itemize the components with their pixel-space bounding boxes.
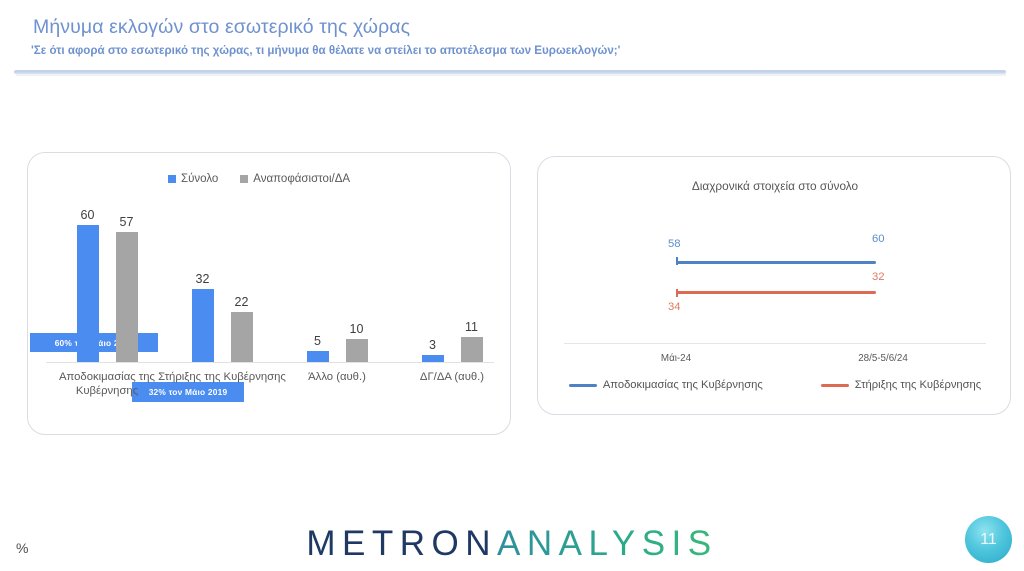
bar-value: 10 xyxy=(350,322,364,336)
bar-wrap: 5 xyxy=(307,351,329,362)
line-chart-panel: Διαχρονικά στοιχεία στο σύνολο 58 60 34 … xyxy=(537,156,1011,415)
legend-swatch-blue-icon xyxy=(168,175,176,183)
bar-value: 5 xyxy=(314,334,321,348)
line-point-label-red-start: 34 xyxy=(668,301,681,313)
bar-grey xyxy=(231,312,253,362)
bar-group-bars: 3 11 xyxy=(397,202,507,362)
bar-group: 32 22 Στήριξης της Κυβέρνησης xyxy=(167,202,277,362)
line-series-red xyxy=(676,291,876,294)
bar-category-label: ΔΓ/ΔΑ (αυθ.) xyxy=(385,371,519,385)
line-legend-item-stirixis: Στήριξης της Κυβέρνησης xyxy=(821,379,981,391)
line-point-label-blue-end: 60 xyxy=(872,233,885,245)
bar-blue xyxy=(422,355,444,362)
bar-value: 60 xyxy=(81,208,95,222)
bar-grey xyxy=(461,337,483,362)
line-legend-label-apodokimasias: Αποδοκιμασίας της Κυβέρνησης xyxy=(603,379,763,391)
bar-blue xyxy=(77,225,99,362)
bar-value: 11 xyxy=(465,320,478,334)
bar-wrap: 22 xyxy=(231,312,253,362)
legend-swatch-grey-icon xyxy=(240,175,248,183)
bar-category-label: Άλλο (αυθ.) xyxy=(270,371,404,385)
bar-chart-panel: Σύνολο Αναποφάσιστοι/ΔΑ 60% τον Μάιο 201… xyxy=(27,152,511,435)
bar-grey xyxy=(346,339,368,362)
page-title: Μήνυμα εκλογών στο εσωτερικό της χώρας xyxy=(33,16,410,39)
page-number-text: 11 xyxy=(980,531,997,549)
line-plot-area: 58 60 34 32 Μάι-24 28/5-5/6/24 xyxy=(560,205,990,345)
line-point-label-blue-start: 58 xyxy=(668,238,681,250)
metron-analysis-logo: METRONANALYSIS xyxy=(0,524,1024,564)
line-legend-item-apodokimasias: Αποδοκιμασίας της Κυβέρνησης xyxy=(569,379,763,391)
bar-baseline xyxy=(46,362,494,363)
line-x-tick: Μάι-24 xyxy=(626,353,726,364)
bar-wrap: 3 xyxy=(422,355,444,362)
slide-header: Μήνυμα εκλογών στο εσωτερικό της χώρας '… xyxy=(0,0,1024,72)
line-x-tick: 28/5-5/6/24 xyxy=(828,353,938,364)
bar-value: 57 xyxy=(120,215,134,229)
line-point-label-red-end: 32 xyxy=(872,271,885,283)
bar-wrap: 57 xyxy=(116,232,138,362)
bar-group-bars: 32 22 xyxy=(167,202,277,362)
line-chart-legend: Αποδοκιμασίας της Κυβέρνησης Στήριξης τη… xyxy=(538,379,1012,391)
line-legend-label-stirixis: Στήριξης της Κυβέρνησης xyxy=(855,379,981,391)
bar-grey xyxy=(116,232,138,362)
bar-value: 32 xyxy=(196,272,210,286)
bar-chart-legend: Σύνολο Αναποφάσιστοι/ΔΑ xyxy=(168,173,350,185)
logo-metron-text: METRON xyxy=(306,524,497,563)
bar-group: 3 11 ΔΓ/ΔΑ (αυθ.) xyxy=(397,202,507,362)
bar-wrap: 32 xyxy=(192,289,214,362)
bar-blue xyxy=(192,289,214,362)
legend-label-sinolo: Σύνολο xyxy=(181,173,218,185)
legend-item-anapofasistoi: Αναποφάσιστοι/ΔΑ xyxy=(240,173,350,185)
line-legend-swatch-red-icon xyxy=(821,384,849,387)
bar-value: 22 xyxy=(235,295,249,309)
page-subtitle: 'Σε ότι αφορά στο εσωτερικό της χώρας, τ… xyxy=(31,44,620,57)
bar-group: 5 10 Άλλο (αυθ.) xyxy=(282,202,392,362)
bar-group-bars: 60 57 xyxy=(52,202,162,362)
header-divider-shadow xyxy=(16,74,1006,76)
slide-canvas: Μήνυμα εκλογών στο εσωτερικό της χώρας '… xyxy=(0,0,1024,571)
line-x-axis xyxy=(564,343,986,344)
line-legend-swatch-blue-icon xyxy=(569,384,597,387)
page-number-badge: 11 xyxy=(965,516,1012,563)
bar-category-label: Στήριξης της Κυβέρνησης xyxy=(155,371,289,385)
line-series-blue xyxy=(676,261,876,264)
bar-wrap: 10 xyxy=(346,339,368,362)
bar-wrap: 60 xyxy=(77,225,99,362)
bar-wrap: 11 xyxy=(461,337,483,362)
line-chart-title: Διαχρονικά στοιχεία στο σύνολο xyxy=(538,179,1012,193)
bar-value: 3 xyxy=(429,338,436,352)
bar-category-label: Αποδοκιμασίας της Κυβέρνησης xyxy=(40,371,174,398)
bar-blue xyxy=(307,351,329,362)
legend-item-sinolo: Σύνολο xyxy=(168,173,218,185)
legend-label-anapofasistoi: Αναποφάσιστοι/ΔΑ xyxy=(253,173,350,185)
logo-analysis-text: ANALYSIS xyxy=(497,524,718,563)
bar-group-bars: 5 10 xyxy=(282,202,392,362)
bar-group: 60 57 Αποδοκιμασίας της Κυβέρνησης xyxy=(52,202,162,362)
bar-plot-area: 60 57 Αποδοκιμασίας της Κυβέρνησης 32 xyxy=(36,201,502,363)
